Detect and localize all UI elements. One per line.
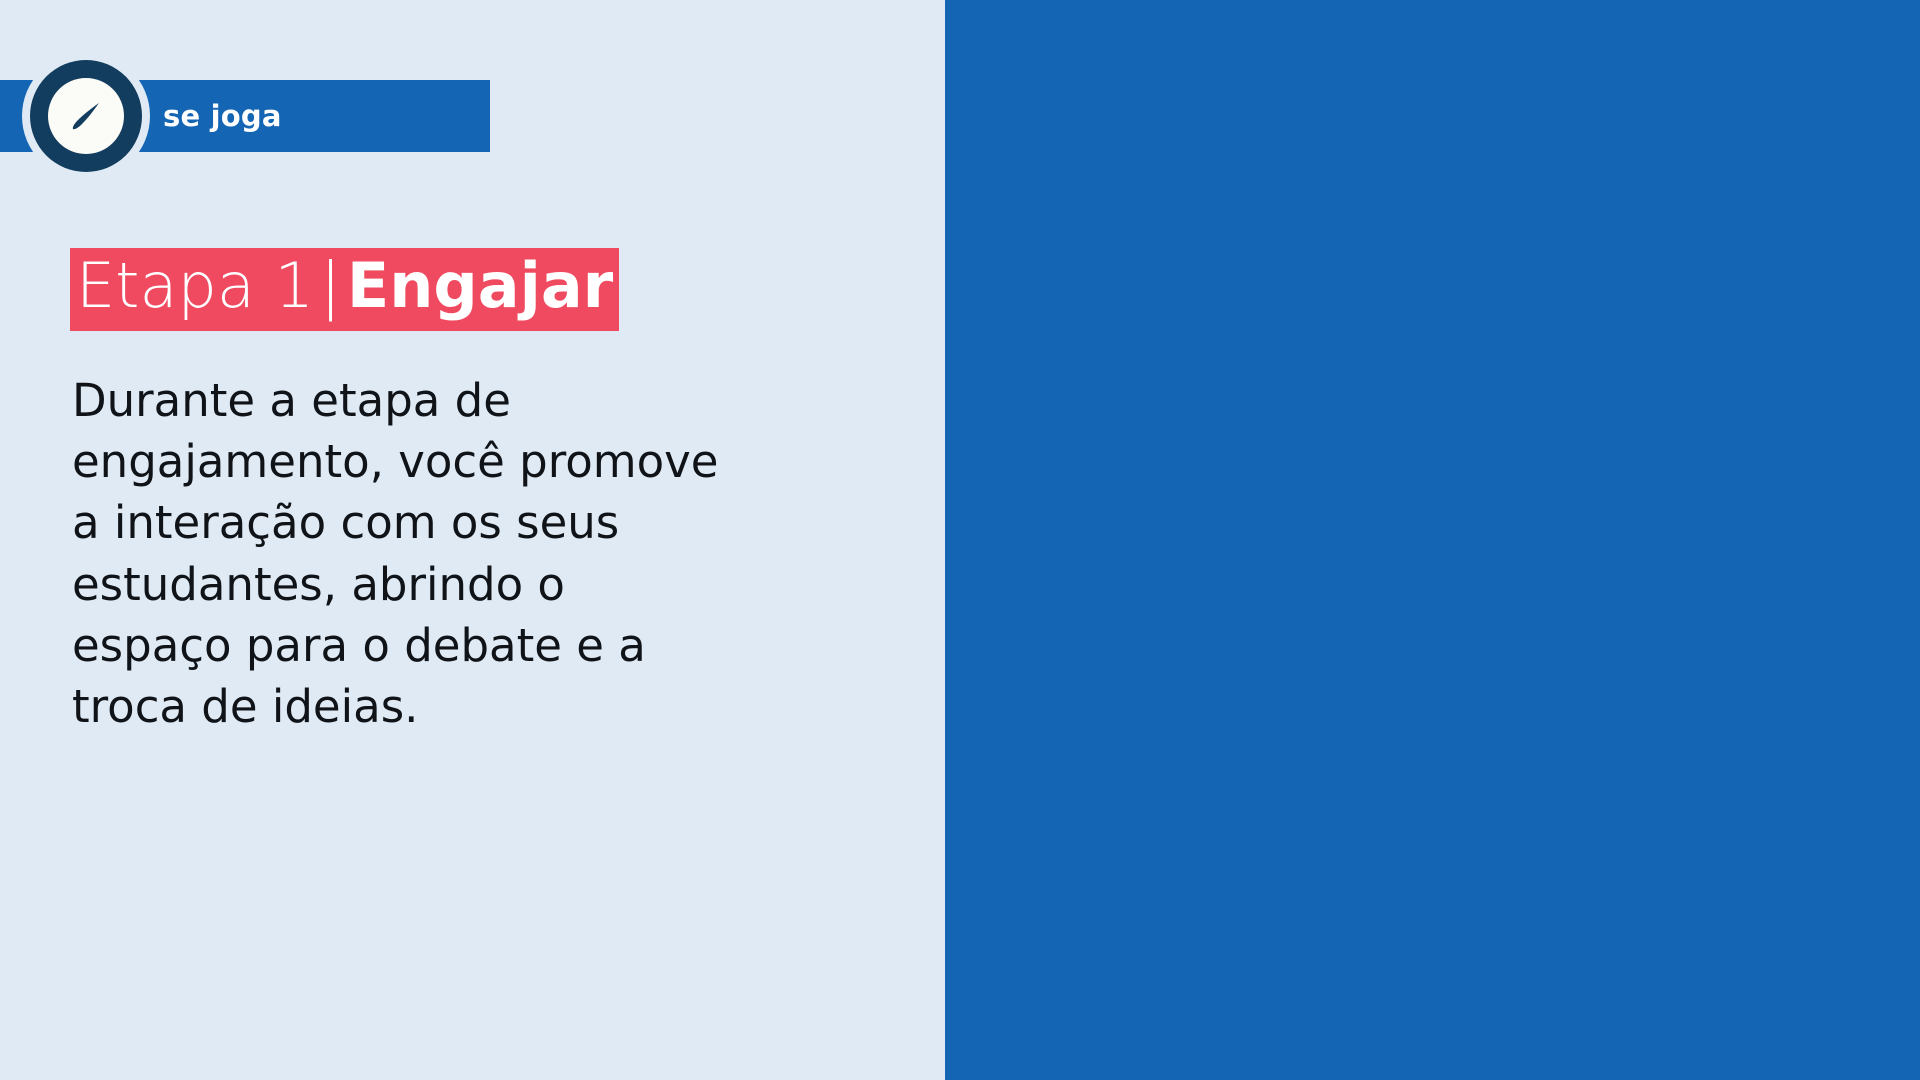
compass-ring <box>30 60 142 172</box>
title-separator: | <box>314 249 347 322</box>
compass-needle-icon <box>64 94 108 138</box>
badge-label: se joga <box>163 99 282 133</box>
compass-icon <box>22 52 150 180</box>
body-paragraph: Durante a etapa de engajamento, você pro… <box>72 370 732 737</box>
title-highlight: Etapa 1|Engajar <box>70 248 619 331</box>
title-name: Engajar <box>347 249 613 322</box>
title-stage: Etapa 1 <box>76 249 314 322</box>
page-title: Etapa 1|Engajar <box>70 253 619 319</box>
left-panel: se joga Etapa 1|Engajar Durante a etapa … <box>0 0 945 1080</box>
compass-face <box>48 78 124 154</box>
right-panel: O que fazer nesta etapa Descreva aqui o … <box>945 0 1920 1080</box>
slide-canvas: se joga Etapa 1|Engajar Durante a etapa … <box>0 0 1920 1080</box>
